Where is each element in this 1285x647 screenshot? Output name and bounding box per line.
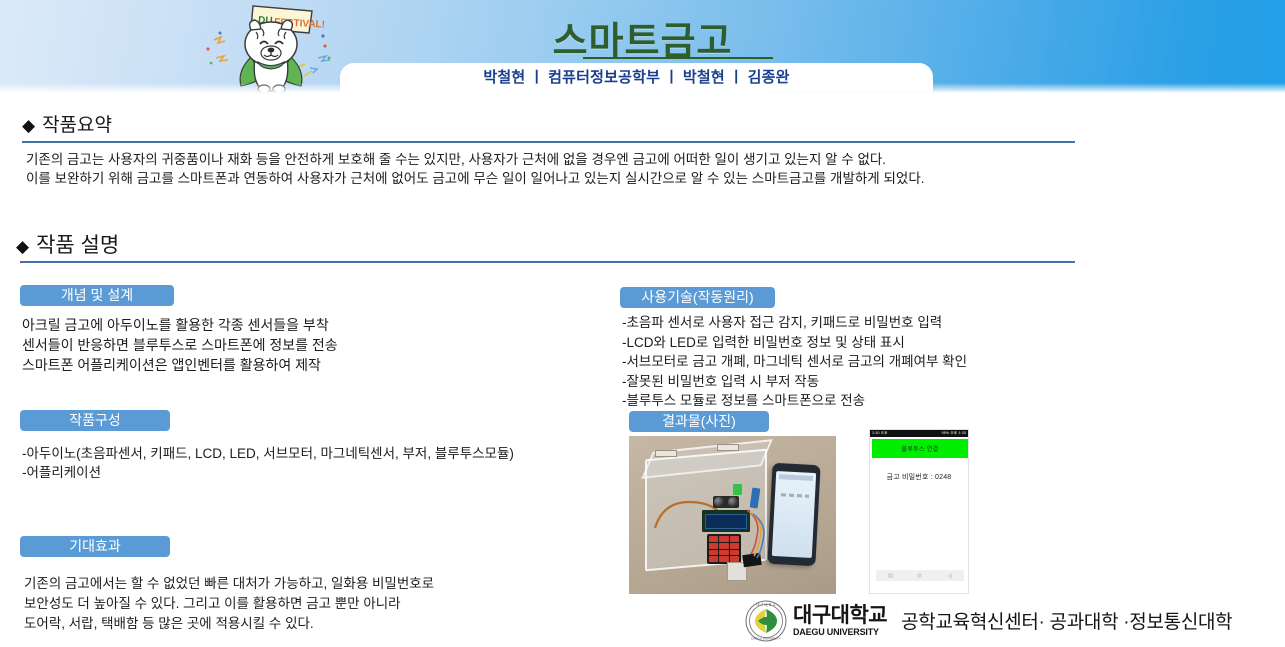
diamond-bullet-icon-2: ◆ [16,237,29,256]
android-nav-bar [876,570,964,581]
description-divider [20,261,1075,263]
keypad-key [719,550,728,556]
lcd-display [705,514,747,529]
phone-status-bar: 1:30 오후 95% 오후 1:30 [870,430,968,437]
keypad-key [719,536,728,542]
title-underline [583,57,773,59]
badge-concept: 개념 및 설계 [20,285,174,306]
recents-icon[interactable] [888,573,893,578]
keypad-key [719,543,728,549]
effects-body: 기존의 금고에서는 할 수 없었던 빠른 대처가 가능하고, 일화용 비밀번호로… [24,574,614,634]
footer: 대 구 대 학 교 DAEGU UNIVERSITY 대구대학교 DAEGU U… [745,598,1232,643]
home-icon[interactable] [917,573,922,578]
summary-divider [22,141,1075,143]
summary-body: 기존의 금고는 사용자의 귀중품이나 재화 등을 안전하게 보호해 줄 수는 있… [26,150,1066,188]
keypad-key [709,543,718,549]
keypad [707,534,741,564]
svg-text:대 구 대 학 교: 대 구 대 학 교 [756,602,775,607]
keypad-key [730,550,739,556]
tablet-app-bar [779,474,813,481]
badge-results: 결과물(사진) [629,411,769,432]
magnetic-sensor [733,484,742,495]
photo-smart-safe-prototype [629,436,836,594]
keypad-key [709,550,718,556]
concept-body: 아크릴 금고에 아두이노를 활용한 각종 센서들을 부착 센서들이 반응하면 블… [22,315,602,375]
section-heading-summary-label: 작품요약 [42,115,112,136]
page-header: DU FESTIVAL! [0,0,1285,93]
university-name: 대구대학교 DAEGU UNIVERSITY [793,605,887,637]
section-heading-description-label: 작품 설명 [36,234,119,257]
tablet-app-text [781,493,809,497]
technology-body: -초음파 센서로 사용자 접근 감지, 키패드로 비밀번호 입력 -LCD와 L… [622,313,1092,411]
badge-technology: 사용기술(작동원리) [620,287,775,308]
keypad-key [709,536,718,542]
badge-composition: 작품구성 [20,410,170,431]
badge-effects: 기대효과 [20,536,170,557]
keypad-key [709,556,718,562]
section-heading-summary: ◆작품요약 [22,110,112,137]
safe-password-label: 금고 비밀번호 : 0248 [870,472,968,482]
section-heading-description: ◆작품 설명 [16,229,119,259]
bluetooth-connect-label: 블루투스 연결 [902,444,939,453]
university-name-ko: 대구대학교 [793,605,887,626]
keypad-key [730,536,739,542]
app-screenshot: 1:30 오후 95% 오후 1:30 블루투스 연결 금고 비밀번호 : 02… [869,429,969,594]
composition-body: -아두이노(초음파센서, 키패드, LCD, LED, 서브모터, 마그네틱센서… [22,444,622,482]
university-name-en: DAEGU UNIVERSITY [793,628,887,637]
status-time: 1:30 오후 [872,430,888,437]
hinge-right [717,444,739,451]
tablet-device [767,463,820,566]
tablet-screen [772,471,816,558]
hinge-left [655,450,677,457]
bluetooth-connect-banner[interactable]: 블루투스 연결 [872,439,968,458]
back-icon[interactable] [947,573,952,579]
diamond-bullet-icon: ◆ [22,116,35,135]
ultrasonic-sensor [713,496,739,508]
svg-text:DAEGU UNIVERSITY: DAEGU UNIVERSITY [751,636,781,640]
status-indicators: 95% 오후 1:30 [942,430,966,437]
keypad-key [730,543,739,549]
header-fade [0,83,1285,93]
daegu-university-logo-icon: 대 구 대 학 교 DAEGU UNIVERSITY [745,600,787,642]
footer-departments: 공학교육혁신센터· 공과대학 ·정보통신대학 [901,607,1232,634]
